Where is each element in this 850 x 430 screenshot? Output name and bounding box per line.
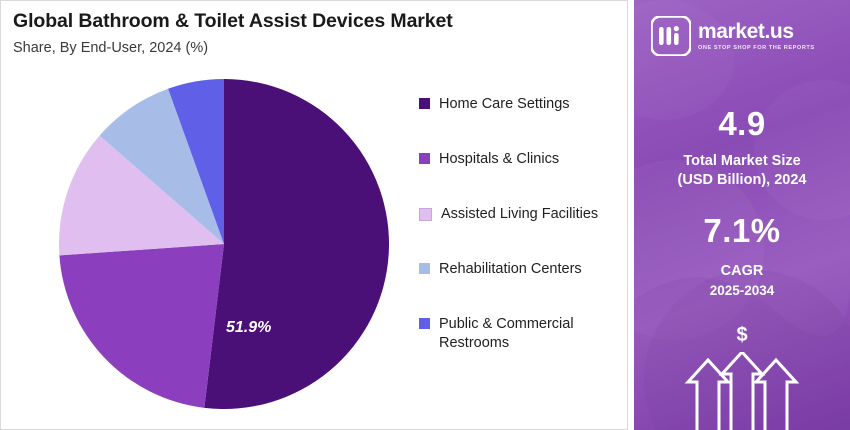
legend-swatch-icon <box>419 263 430 274</box>
page-subtitle: Share, By End-User, 2024 (%) <box>13 40 208 56</box>
pie-slice-label-home-care: 51.9% <box>226 319 271 337</box>
brand-name-block: market.us ONE STOP SHOP FOR THE REPORTS <box>698 21 815 51</box>
pie-chart: 51.9% <box>59 79 389 419</box>
market-size-caption: Total Market Size (USD Billion), 2024 <box>634 152 850 190</box>
dollar-sign-icon: $ <box>634 324 850 347</box>
pie-slice <box>204 79 389 409</box>
legend-item-rehabilitation-centers[interactable]: Rehabilitation Centers <box>419 260 619 279</box>
legend-swatch-icon <box>419 98 430 109</box>
market-size-value: 4.9 <box>634 105 850 143</box>
legend-label: Public & Commercial Restrooms <box>439 315 604 353</box>
stats-sidebar: market.us ONE STOP SHOP FOR THE REPORTS … <box>634 0 850 430</box>
legend-label: Rehabilitation Centers <box>439 260 582 279</box>
legend-swatch-icon <box>419 208 432 221</box>
chart-legend: Home Care Settings Hospitals & Clinics A… <box>419 95 619 389</box>
legend-item-home-care-settings[interactable]: Home Care Settings <box>419 95 619 114</box>
cagr-period: 2025-2034 <box>634 281 850 300</box>
pie-chart-svg <box>59 79 389 409</box>
brand-logo[interactable]: market.us ONE STOP SHOP FOR THE REPORTS <box>651 13 835 59</box>
legend-label: Home Care Settings <box>439 95 570 114</box>
market-us-logo-icon <box>651 16 691 56</box>
pie-slice <box>59 244 224 408</box>
chart-panel: Global Bathroom & Toilet Assist Devices … <box>0 0 628 430</box>
legend-item-hospitals-clinics[interactable]: Hospitals & Clinics <box>419 150 619 169</box>
legend-swatch-icon <box>419 318 430 329</box>
cagr-caption: CAGR <box>634 262 850 281</box>
growth-arrows-icon <box>634 352 850 430</box>
legend-label: Hospitals & Clinics <box>439 150 559 169</box>
infographic-page: Global Bathroom & Toilet Assist Devices … <box>0 0 850 430</box>
legend-swatch-icon <box>419 153 430 164</box>
brand-tagline: ONE STOP SHOP FOR THE REPORTS <box>698 45 815 51</box>
legend-item-assisted-living-facilities[interactable]: Assisted Living Facilities <box>419 205 619 224</box>
market-size-caption-line1: Total Market Size <box>634 152 850 171</box>
page-title: Global Bathroom & Toilet Assist Devices … <box>13 10 453 33</box>
market-size-caption-line2: (USD Billion), 2024 <box>634 171 850 190</box>
legend-item-public-commercial-restrooms[interactable]: Public & Commercial Restrooms <box>419 315 619 353</box>
brand-name: market.us <box>698 21 815 43</box>
legend-label: Assisted Living Facilities <box>441 205 598 224</box>
cagr-value: 7.1% <box>634 212 850 250</box>
